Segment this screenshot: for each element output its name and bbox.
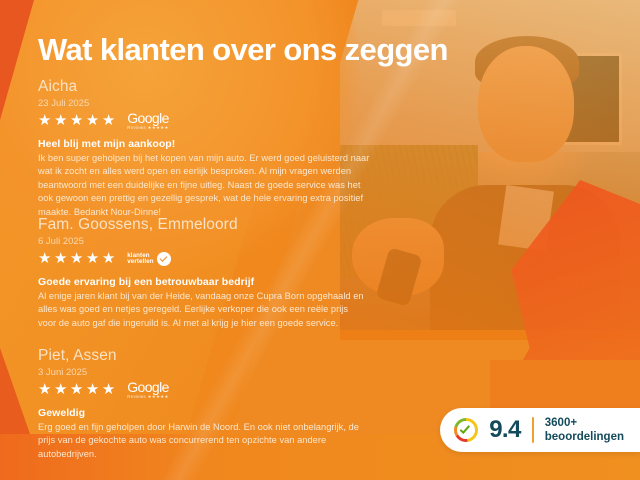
review-meta: ★ ★ ★ ★ ★ Google Reviews ★★★★★ bbox=[38, 381, 398, 399]
review-meta: ★ ★ ★ ★ ★ klanten vertellen bbox=[38, 250, 398, 268]
star-rating: ★ ★ ★ ★ ★ bbox=[38, 113, 115, 129]
klantenvertellen-wordmark: klanten vertellen bbox=[127, 253, 153, 266]
star-icon: ★ bbox=[54, 251, 67, 267]
star-icon: ★ bbox=[70, 251, 83, 267]
star-icon: ★ bbox=[54, 382, 67, 398]
rating-count: 3600+ bbox=[545, 416, 624, 430]
google-reviews-logo: Google Reviews ★★★★★ bbox=[127, 111, 169, 130]
star-rating: ★ ★ ★ ★ ★ bbox=[38, 382, 115, 398]
star-icon: ★ bbox=[86, 251, 99, 267]
review-date: 23 Juli 2025 bbox=[38, 97, 398, 110]
banner-content: Wat klanten over ons zeggen Aicha 23 Jul… bbox=[0, 0, 640, 480]
check-circle-icon bbox=[157, 252, 171, 266]
rating-badge[interactable]: 9.4 3600+ beoordelingen bbox=[440, 408, 640, 452]
review-item: Piet, Assen 3 Juni 2025 ★ ★ ★ ★ ★ Google… bbox=[38, 347, 398, 461]
star-icon: ★ bbox=[38, 382, 51, 398]
review-title: Geweldig bbox=[38, 406, 398, 420]
star-icon: ★ bbox=[70, 382, 83, 398]
review-author: Piet, Assen bbox=[38, 347, 398, 365]
google-wordmark: Google bbox=[127, 111, 169, 125]
review-item: Fam. Goossens, Emmeloord 6 Juli 2025 ★ ★… bbox=[38, 216, 398, 330]
review-date: 3 Juni 2025 bbox=[38, 366, 398, 379]
star-icon: ★ bbox=[102, 251, 115, 267]
review-author: Aicha bbox=[38, 78, 398, 96]
review-author: Fam. Goossens, Emmeloord bbox=[38, 216, 398, 234]
google-reviews-logo: Google Reviews ★★★★★ bbox=[127, 380, 169, 399]
rating-label: beoordelingen bbox=[545, 430, 624, 444]
review-body: Al enige jaren klant bij van der Heide, … bbox=[38, 290, 368, 330]
review-title: Heel blij met mijn aankoop! bbox=[38, 137, 398, 151]
star-icon: ★ bbox=[86, 382, 99, 398]
review-body: Ik ben super geholpen bij het kopen van … bbox=[38, 152, 378, 219]
review-body: Erg goed en fijn geholpen door Harwin de… bbox=[38, 421, 368, 461]
review-item: Aicha 23 Juli 2025 ★ ★ ★ ★ ★ Google Revi… bbox=[38, 78, 398, 219]
google-reviews-subtext: Reviews ★★★★★ bbox=[127, 395, 169, 399]
star-icon: ★ bbox=[86, 113, 99, 129]
rating-divider bbox=[532, 417, 534, 443]
rating-text: 3600+ beoordelingen bbox=[545, 416, 624, 444]
star-icon: ★ bbox=[102, 113, 115, 129]
star-icon: ★ bbox=[102, 382, 115, 398]
review-title: Goede ervaring bij een betrouwbaar bedri… bbox=[38, 275, 398, 289]
review-meta: ★ ★ ★ ★ ★ Google Reviews ★★★★★ bbox=[38, 112, 398, 130]
review-date: 6 Juli 2025 bbox=[38, 235, 398, 248]
star-icon: ★ bbox=[38, 251, 51, 267]
klantenvertellen-line2: vertellen bbox=[127, 259, 153, 266]
star-icon: ★ bbox=[54, 113, 67, 129]
star-icon: ★ bbox=[38, 113, 51, 129]
page-title: Wat klanten over ons zeggen bbox=[38, 32, 448, 68]
google-reviews-subtext: Reviews ★★★★★ bbox=[127, 126, 169, 130]
rating-score: 9.4 bbox=[489, 416, 521, 444]
google-wordmark: Google bbox=[127, 380, 169, 394]
star-rating: ★ ★ ★ ★ ★ bbox=[38, 251, 115, 267]
star-icon: ★ bbox=[70, 113, 83, 129]
kiyoh-check-icon bbox=[454, 418, 478, 442]
klantenvertellen-logo: klanten vertellen bbox=[127, 252, 170, 266]
